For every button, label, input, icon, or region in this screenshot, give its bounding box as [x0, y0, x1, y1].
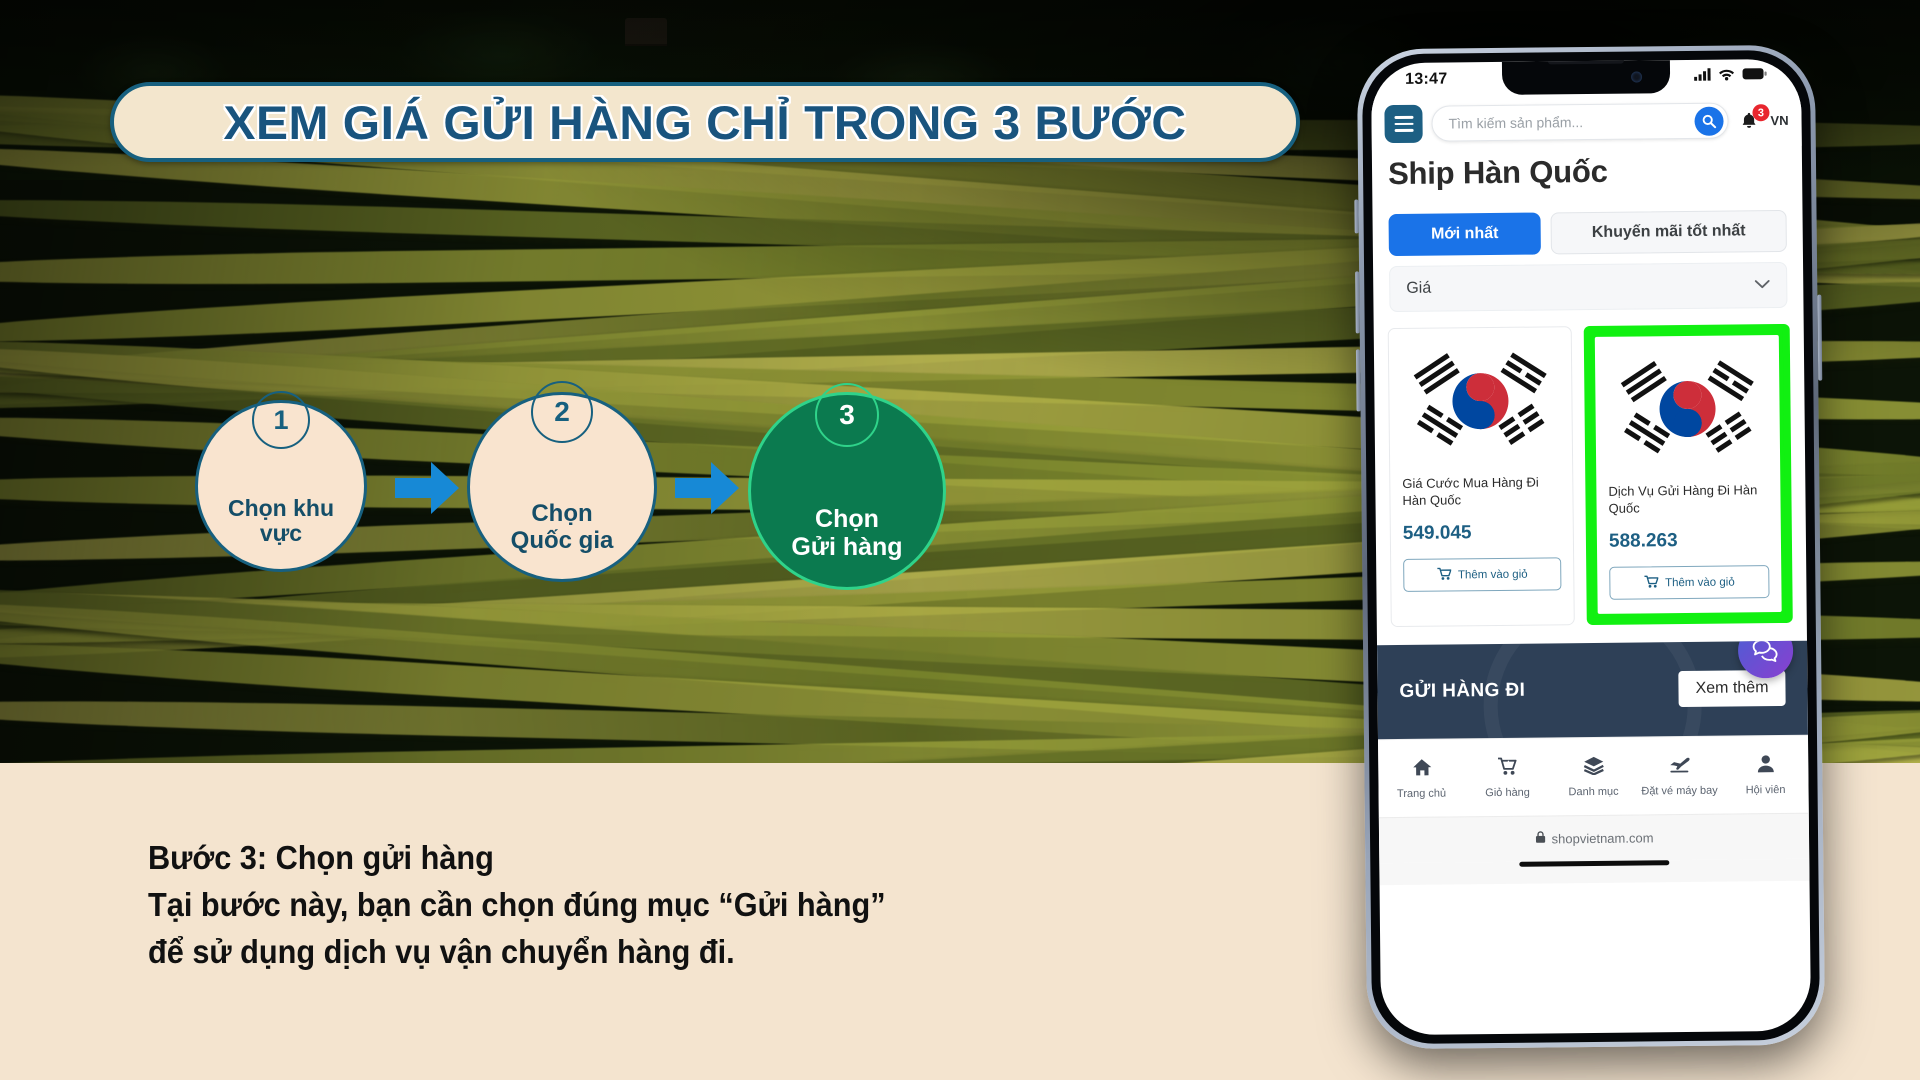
step-3-caption: Chọn Gửi hàng [791, 505, 902, 561]
step-1-caption: Chọn khu vực [228, 496, 334, 548]
product-price: 549.045 [1403, 521, 1561, 545]
tabbar-label: Trang chủ [1397, 787, 1446, 800]
tabbar-label: Hội viên [1746, 783, 1786, 795]
hamburger-menu-icon[interactable] [1384, 105, 1422, 143]
status-time: 13:47 [1405, 70, 1448, 88]
step-2-number: 2 [554, 396, 570, 428]
language-selector[interactable]: VN [1770, 112, 1788, 127]
airplane-icon [1668, 754, 1691, 778]
page-title: XEM GIÁ GỬI HÀNG CHỈ TRONG 3 BƯỚC [224, 95, 1187, 150]
notification-bell-icon[interactable]: 3 [1737, 105, 1761, 135]
filter-tabs: Mới nhất Khuyến mãi tốt nhất [1372, 188, 1803, 256]
product-title: Dịch Vụ Gửi Hàng Đi Hàn Quốc [1608, 481, 1768, 519]
lock-icon [1535, 830, 1546, 848]
search-input[interactable]: Tìm kiếm sản phẩm... [1431, 103, 1728, 142]
shopping-cart-icon [1497, 756, 1518, 780]
south-korea-flag [1607, 349, 1768, 469]
add-to-cart-label: Thêm vào giỏ [1665, 576, 1735, 589]
tab-moi-nhat[interactable]: Mới nhất [1389, 213, 1541, 257]
url-text: shopvietnam.com [1552, 830, 1654, 846]
tabbar-item-dat-ve-may-bay[interactable]: Đặt vé máy bay [1636, 754, 1722, 797]
status-bar: 13:47 [1371, 59, 1801, 97]
tab-khuyen-mai[interactable]: Khuyến mãi tốt nhất [1550, 210, 1786, 254]
tabbar-item-trang-chu[interactable]: Trang chủ [1378, 757, 1464, 800]
phone-volume-down-button[interactable] [1356, 349, 1361, 411]
tabbar-item-danh-muc[interactable]: Danh mục [1550, 755, 1636, 798]
add-to-cart-label: Thêm vào giỏ [1458, 568, 1528, 581]
south-korea-flag [1401, 341, 1560, 461]
step-2-badge: 2 [531, 381, 593, 443]
tabbar-item-hoi-vien[interactable]: Hội viên [1722, 753, 1808, 796]
tabbar-label: Đặt vé máy bay [1641, 784, 1718, 797]
product-card-slot-1: Giá Cước Mua Hàng Đi Hàn Quốc 549.045 [1388, 326, 1575, 627]
add-to-cart-button[interactable]: Thêm vào giỏ [1609, 565, 1769, 600]
step-2-caption: Chọn Quốc gia [511, 501, 614, 555]
step-1-badge: 1 [252, 391, 310, 449]
arrow-1-to-2 [395, 462, 459, 514]
shopping-cart-icon [1437, 567, 1451, 583]
product-card-slot-2-highlighted: Dịch Vụ Gửi Hàng Đi Hàn Quốc 588.263 [1584, 324, 1793, 625]
phone-volume-up-button[interactable] [1355, 271, 1360, 333]
phone-screen: 13:47 [1371, 59, 1811, 1035]
step-2-line1: Chọn [511, 501, 614, 528]
user-icon [1756, 754, 1775, 778]
step-2[interactable]: 2 Chọn Quốc gia [467, 392, 657, 582]
steps-diagram: 1 Chọn khu vực 2 Chọn Quốc gia [195, 400, 1055, 630]
search-placeholder: Tìm kiếm sản phẩm... [1448, 113, 1694, 132]
instruction-line-3: để sử dụng dịch vụ vận chuyển hàng đi. [148, 929, 1078, 976]
step-3-badge: 3 [815, 383, 879, 447]
battery-icon [1742, 67, 1767, 85]
wifi-icon [1718, 67, 1735, 85]
step-1-line1: Chọn khu [228, 496, 334, 522]
step-3[interactable]: 3 Chọn Gửi hàng [748, 392, 946, 590]
home-icon [1411, 757, 1432, 781]
layers-icon [1583, 755, 1604, 779]
shopping-cart-icon [1644, 575, 1658, 591]
price-sort-select[interactable]: Giá [1389, 262, 1787, 312]
sort-row: Giá [1373, 252, 1804, 312]
arrow-2-to-3 [675, 462, 739, 514]
step-2-line2: Quốc gia [511, 528, 614, 555]
phone-mockup: 13:47 [1357, 45, 1825, 1050]
step-3-number: 3 [839, 399, 855, 431]
cellular-signal-icon [1694, 67, 1711, 85]
screen-heading: Ship Hàn Quốc [1372, 146, 1802, 193]
step-1-number: 1 [273, 405, 288, 436]
app-bar: Tìm kiếm sản phẩm... [1371, 92, 1802, 150]
promo-banner: GỬI HÀNG ĐI Xem thêm [1377, 641, 1808, 739]
product-card[interactable]: Dịch Vụ Gửi Hàng Đi Hàn Quốc 588.263 [1595, 335, 1782, 614]
search-icon[interactable] [1694, 106, 1723, 135]
browser-url-bar[interactable]: shopvietnam.com [1379, 813, 1809, 864]
step-3-line2: Gửi hàng [791, 533, 902, 561]
product-list: Giá Cước Mua Hàng Đi Hàn Quốc 549.045 [1374, 308, 1807, 627]
phone-bezel: 13:47 [1362, 50, 1820, 1045]
instruction-line-2: Tại bước này, bạn cần chọn đúng mục “Gửi… [148, 882, 1078, 929]
price-sort-value: Giá [1406, 280, 1431, 298]
add-to-cart-button[interactable]: Thêm vào giỏ [1403, 557, 1561, 592]
home-indicator [1379, 859, 1809, 886]
notification-count-badge: 3 [1752, 104, 1769, 121]
bottom-tab-bar: Trang chủ Giỏ hàng [1378, 735, 1809, 817]
status-icons [1694, 67, 1767, 86]
product-price: 588.263 [1609, 529, 1769, 553]
step-1[interactable]: 1 Chọn khu vực [195, 400, 367, 572]
step-1-line2: vực [228, 521, 334, 547]
tabbar-item-gio-hang[interactable]: Giỏ hàng [1464, 756, 1550, 799]
phone-silent-switch[interactable] [1354, 199, 1358, 233]
instruction-line-1: Bước 3: Chọn gửi hàng [148, 835, 1078, 882]
product-card[interactable]: Giá Cước Mua Hàng Đi Hàn Quốc 549.045 [1388, 326, 1575, 627]
chevron-down-icon [1754, 276, 1770, 294]
title-banner: XEM GIÁ GỬI HÀNG CHỈ TRONG 3 BƯỚC [110, 82, 1300, 162]
tabbar-label: Danh mục [1568, 785, 1618, 798]
slide-root: XEM GIÁ GỬI HÀNG CHỈ TRONG 3 BƯỚC 1 Chọn… [0, 0, 1920, 1080]
promo-title: GỬI HÀNG ĐI [1399, 680, 1525, 703]
step-3-line1: Chọn [791, 505, 902, 533]
product-title: Giá Cước Mua Hàng Đi Hàn Quốc [1402, 473, 1560, 511]
tabbar-label: Giỏ hàng [1485, 786, 1530, 798]
instruction-text-block: Bước 3: Chọn gửi hàng Tại bước này, bạn … [148, 835, 1148, 976]
